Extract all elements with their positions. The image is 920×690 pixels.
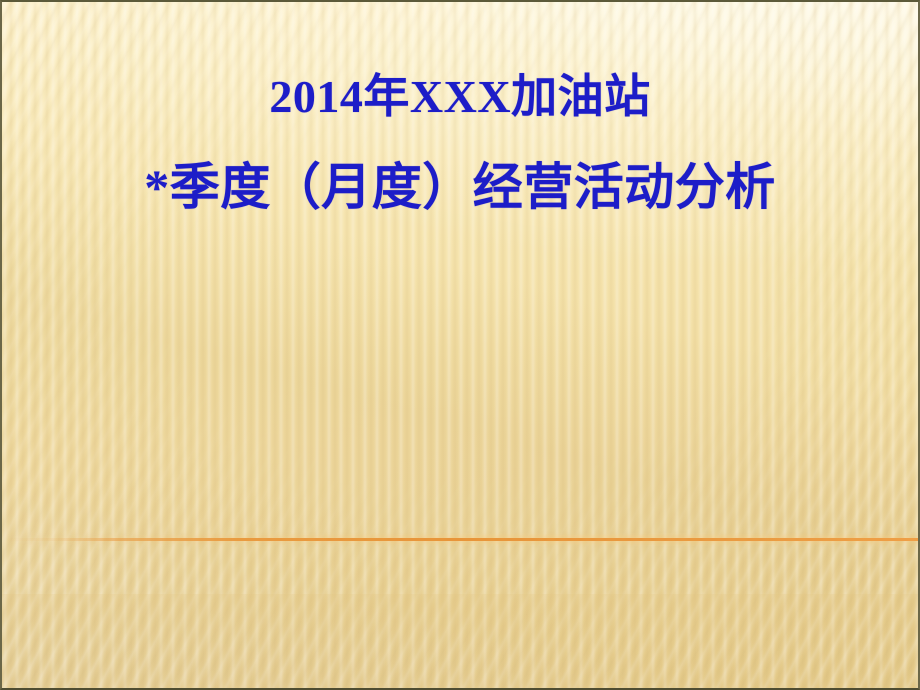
slide-title-line-1: 2014年XXX加油站 [2,74,918,120]
presentation-slide: 2014年XXX加油站 *季度（月度）经营活动分析 [0,0,920,690]
accent-rule [2,538,918,541]
slide-title-line-2: *季度（月度）经营活动分析 [2,162,918,212]
slide-background-lower-band [2,594,918,690]
slide-title-block[interactable]: 2014年XXX加油站 *季度（月度）经营活动分析 [2,74,918,212]
